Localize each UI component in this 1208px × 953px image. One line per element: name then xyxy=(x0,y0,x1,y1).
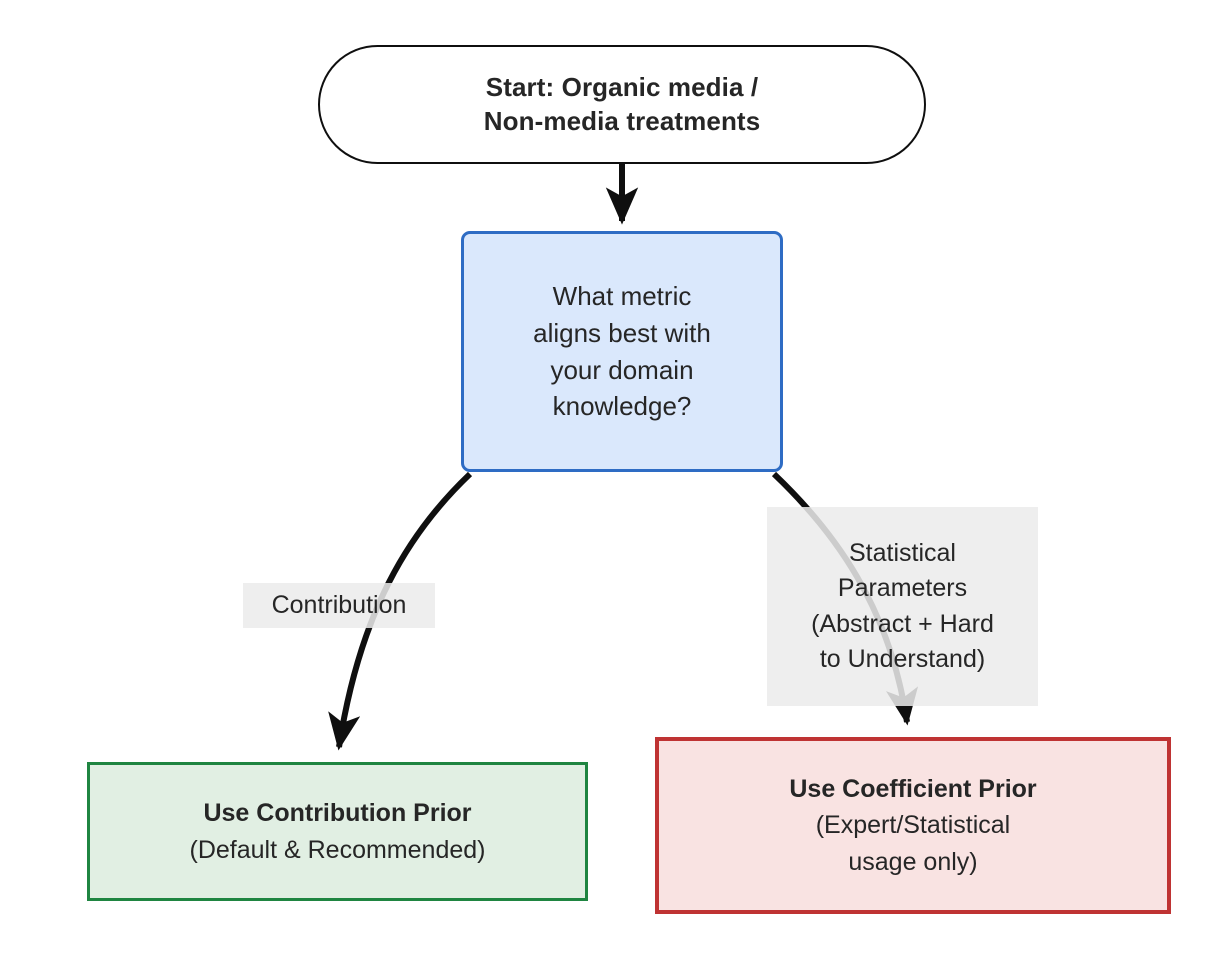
node-start-line-2: Non-media treatments xyxy=(484,105,761,138)
edge-label-contribution: Contribution xyxy=(243,583,435,628)
edge-label-statistical-parameters: Statistical Parameters (Abstract + Hard … xyxy=(767,507,1038,706)
edge-label-statistical-line-1: Statistical xyxy=(849,536,956,572)
node-coefficient-title: Use Coefficient Prior xyxy=(789,771,1036,807)
edge-label-statistical-line-2: Parameters xyxy=(838,571,967,607)
node-coefficient-subtitle-line-2: usage only) xyxy=(848,844,977,880)
node-use-contribution-prior[interactable]: Use Contribution Prior (Default & Recomm… xyxy=(87,762,588,901)
node-start-line-1: Start: Organic media / xyxy=(486,71,758,104)
edge-label-contribution-line-1: Contribution xyxy=(272,588,407,624)
node-start[interactable]: Start: Organic media / Non-media treatme… xyxy=(318,45,926,164)
node-contribution-title: Use Contribution Prior xyxy=(203,795,471,831)
node-decision-metric-choice[interactable]: What metric aligns best with your domain… xyxy=(461,231,783,472)
node-use-coefficient-prior[interactable]: Use Coefficient Prior (Expert/Statistica… xyxy=(655,737,1171,914)
flowchart-canvas: Start: Organic media / Non-media treatme… xyxy=(0,0,1208,953)
node-decision-line-1: What metric xyxy=(553,278,692,315)
edge-label-statistical-line-4: to Understand) xyxy=(820,642,985,678)
node-decision-line-3: your domain xyxy=(550,352,693,389)
node-decision-line-2: aligns best with xyxy=(533,315,711,352)
node-decision-line-4: knowledge? xyxy=(553,388,692,425)
node-contribution-subtitle: (Default & Recommended) xyxy=(190,832,486,868)
node-coefficient-subtitle-line-1: (Expert/Statistical xyxy=(816,807,1011,843)
edge-label-statistical-line-3: (Abstract + Hard xyxy=(811,607,994,643)
